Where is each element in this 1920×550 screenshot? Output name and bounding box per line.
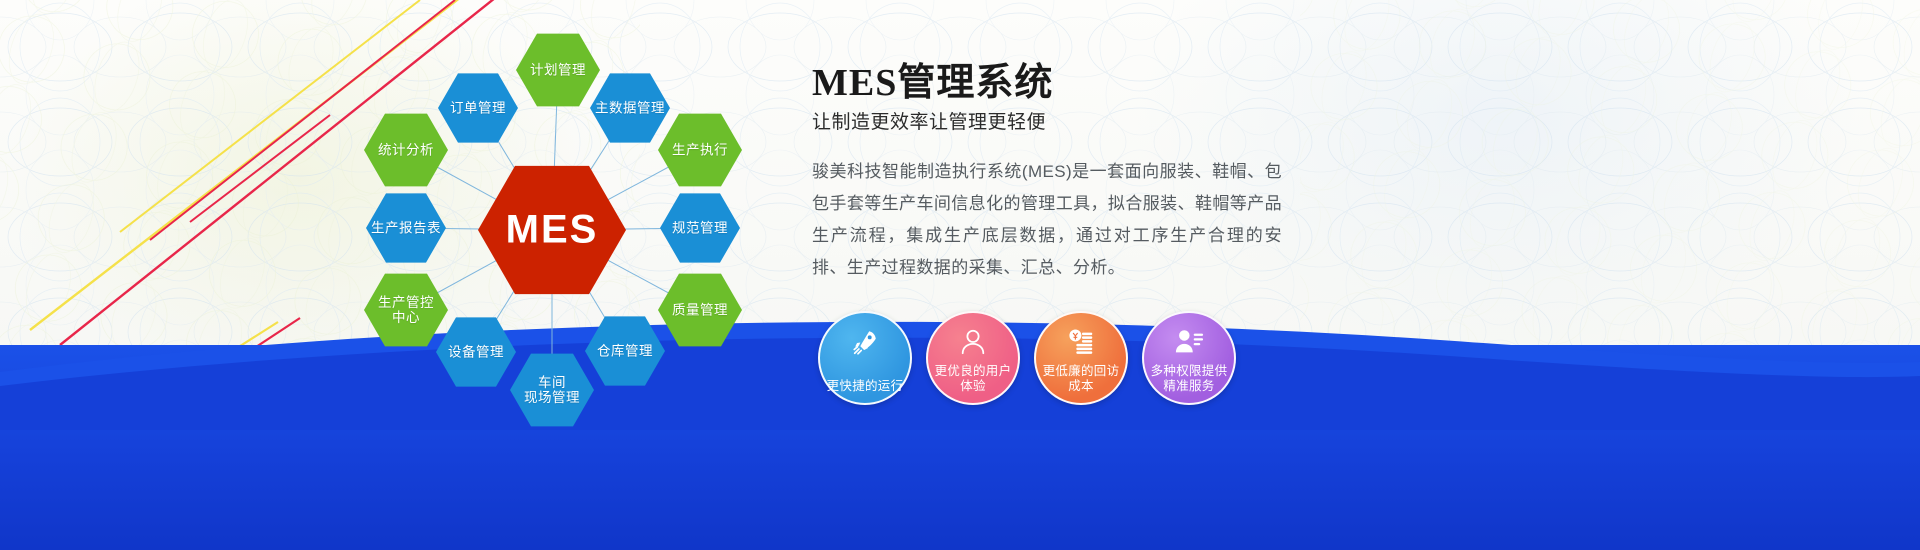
hex-node[interactable] (658, 274, 742, 347)
hex-node[interactable] (516, 34, 600, 107)
feature-badge-label: 更优良的用户 体验 (927, 364, 1019, 394)
hex-center-label: MES (506, 208, 599, 253)
feature-badge[interactable]: 更快捷的运行 (818, 311, 912, 405)
hex-node[interactable] (436, 317, 516, 386)
hex-node[interactable] (585, 316, 665, 385)
hex-node[interactable] (658, 114, 742, 187)
hex-shape (364, 114, 448, 187)
feature-badge-label: 更低廉的回访 成本 (1035, 364, 1127, 394)
feature-badge[interactable]: 更优良的用户 体验 (926, 311, 1020, 405)
user-card-icon (1174, 327, 1204, 357)
hex-node[interactable] (590, 73, 670, 142)
hex-shape (510, 354, 594, 427)
page-description: 骏美科技智能制造执行系统(MES)是一套面向服装、鞋帽、包包手套等生产车间信息化… (812, 156, 1282, 284)
hex-shape (366, 193, 446, 262)
mes-banner: 计划管理主数据管理生产执行规范管理质量管理仓库管理车间 现场管理设备管理生产管控… (0, 0, 1920, 550)
hex-node[interactable] (366, 193, 446, 262)
rocket-icon (850, 327, 880, 357)
hex-node[interactable] (364, 114, 448, 187)
hex-shape (590, 73, 670, 142)
hex-shape (364, 274, 448, 347)
hex-shape (658, 274, 742, 347)
banner-text-column: MES管理系统 让制造更效率让管理更轻便 骏美科技智能制造执行系统(MES)是一… (812, 60, 1312, 284)
feature-badge[interactable]: 更低廉的回访 成本 (1034, 311, 1128, 405)
feature-badge[interactable]: 多种权限提供 精准服务 (1142, 311, 1236, 405)
feature-badge-label: 多种权限提供 精准服务 (1143, 364, 1235, 394)
hex-shape (438, 73, 518, 142)
hex-shape (658, 114, 742, 187)
page-title: MES管理系统 (812, 60, 1312, 106)
hex-node[interactable] (364, 274, 448, 347)
coins-icon (1066, 327, 1096, 357)
hex-shape (516, 34, 600, 107)
hex-node[interactable] (660, 193, 740, 262)
hex-node[interactable] (510, 354, 594, 427)
hex-shape (436, 317, 516, 386)
mes-hex-diagram: 计划管理主数据管理生产执行规范管理质量管理仓库管理车间 现场管理设备管理生产管控… (330, 10, 800, 450)
hex-shape (585, 316, 665, 385)
feature-badge-row: 更快捷的运行更优良的用户 体验更低廉的回访 成本多种权限提供 精准服务 (818, 305, 1318, 415)
user-icon (958, 327, 988, 357)
hex-node[interactable] (438, 73, 518, 142)
feature-badge-label: 更快捷的运行 (819, 379, 911, 394)
page-subtitle: 让制造更效率让管理更轻便 (812, 110, 1312, 136)
hex-shape (660, 193, 740, 262)
